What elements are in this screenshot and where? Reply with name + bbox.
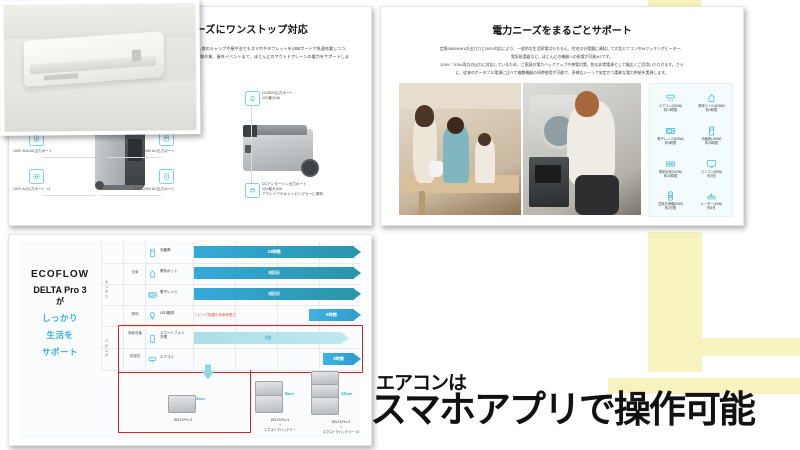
chart-row-3: LED照明 リビング設置中気象無電力 6時間 <box>147 305 361 326</box>
tagline-line-3: サポート <box>19 346 101 358</box>
chart-row-1: 電気ポット 3回/日 <box>147 263 361 284</box>
chart-bar-value-3: 6時間 <box>326 312 337 318</box>
category-label-living: リビング <box>105 329 110 369</box>
label-ac-100-200v: 100V/200V AC出力ポート <box>101 187 175 192</box>
panel2-body-line1: 定格3600W※1の出力力と200V対応により、一般的な生活家電はもちろん、住宅… <box>401 45 723 53</box>
appliance-time-1: 約4時間 <box>691 108 732 112</box>
refrigerator-icon <box>147 247 158 258</box>
chart-annotation: リビング設置中気象無電力 <box>194 313 236 318</box>
battery-capacity-2: 12kwh <box>341 391 352 396</box>
panel2-body-text: 定格3600W※1の出力力と200V対応により、一般的な生活家電はもちろん、住宅… <box>401 45 723 77</box>
slide-canvas: マルチ出力で多様な電力ニーズにワンストップ対応 7つのAC出力ポートに加え、4つ… <box>0 0 800 450</box>
battery-name-2-l3: エクストラバッテリー ×2 <box>281 430 372 435</box>
photo-family-kitchen <box>399 83 521 215</box>
panel2-body-line4: に、従来のポータブル電源に比べて複数機器の同時使用が可能で、多様なシーンで安定か… <box>401 69 723 77</box>
chart-bar-2: 3回/日 <box>194 288 354 300</box>
chart-bar-3: 6時間 <box>309 309 354 321</box>
tagline-line-1: しっかり <box>19 312 101 324</box>
photo-woman-laundry-power-station <box>523 83 641 215</box>
chart-bar-1: 3回/日 <box>194 267 354 279</box>
delta-pro-3-side-illustration <box>241 119 319 181</box>
appliance-cell-1: 電気ケトル(600W) 約4時間 <box>691 92 732 113</box>
panel2-body-line3: 100V／200V両方の出力に対応しているため、ご家庭の電力バックアップや停電対… <box>401 61 723 69</box>
microwave-icon <box>147 289 158 300</box>
appliance-time-0: 約13時間 <box>650 108 691 112</box>
subcategory-kitchen-lighting: 照明 <box>124 312 146 317</box>
product-model-name: DELTA Pro 3 <box>19 285 101 295</box>
chart-row-0: 冷蔵庫 24時間 <box>147 242 361 263</box>
chart-area: ECOFLOW DELTA Pro 3 が しっかり 生活を サポート キッチン <box>19 241 361 439</box>
appliance-cell-3: 冷蔵庫(100W) 約23時間 <box>691 125 732 146</box>
refrigerator-icon <box>706 125 718 136</box>
label-anderson-line3: アウトドアやキャンピングカーに便利 <box>262 192 323 197</box>
yellow-accent-bar-upper <box>652 338 800 356</box>
appliance-cell-0: エアコン(200W) 約13時間 <box>650 92 691 113</box>
panel-whole-support: 電力ニーズをまるごとサポート 定格3600W※1の出力力と200V対応により、一… <box>380 6 744 226</box>
category-label-kitchen: キッチン <box>105 255 110 325</box>
overlay-caption: エアコンは スマホアプリで操作可能 <box>370 374 800 429</box>
particle-ga: が <box>19 296 101 307</box>
chart-bar-value-4: 2台 <box>265 335 272 341</box>
pc-monitor-icon <box>706 158 718 169</box>
chart-bar-value-1: 3回/日 <box>268 270 280 276</box>
chart-bar-value-2: 3回/日 <box>268 291 280 297</box>
panel2-title: 電力ニーズをまるごとサポート <box>381 22 743 37</box>
label-ac-100v-x4: 100V AC出力ポート ×4 <box>13 187 50 192</box>
anderson-port-icon <box>245 183 260 198</box>
air-conditioner-photo <box>3 3 196 132</box>
ac-outlet-dual-voltage-icon <box>159 169 174 184</box>
appliance-time-2: 約4時間 <box>650 141 691 145</box>
router-icon <box>706 190 718 201</box>
panel2-body-line2: 電気給湯器など、ほとんどの機器への給電が可能※2です。 <box>401 53 723 61</box>
led-bulb-icon <box>147 310 158 321</box>
appliance-runtime-grid: エアコン(200W) 約13時間 電気ケトル(600W) 約4時間 電子レンジ(… <box>649 83 733 217</box>
ecoflow-logo: ECOFLOW <box>19 269 101 280</box>
kettle-icon <box>706 92 718 103</box>
kettle-icon <box>147 268 158 279</box>
ac-outlet-icon <box>29 169 44 184</box>
battery-option-2: 12kwh DELTA Pro 3 + エクストラバッテリー ×2 <box>281 369 372 434</box>
appliance-cell-4: 電気毛布(100W) 約23時間 <box>650 158 691 179</box>
appliance-time-5: 約7回 <box>691 174 732 178</box>
chart-row-2: 電子レンジ 3回/日 <box>147 284 361 305</box>
chart-bar-0: 24時間 <box>194 246 354 258</box>
chart-row-label-2: 電子レンジ <box>160 290 178 295</box>
appliance-time-7: 約5日 <box>691 206 732 210</box>
appliance-cell-7: ルーター(10W) 約5日 <box>691 190 732 211</box>
chart-bar-value-5: 3時間 <box>333 356 344 362</box>
chart-brand-column: ECOFLOW DELTA Pro 3 が しっかり 生活を サポート <box>19 241 101 439</box>
label-ac-200v: 200V AC出力ポート <box>109 149 175 154</box>
chart-bar-value-0: 24時間 <box>267 249 280 255</box>
battery-capacity-0: 4kwh <box>196 396 205 401</box>
panel-runtime-chart: ECOFLOW DELTA Pro 3 が しっかり 生活を サポート キッチン <box>8 234 372 446</box>
panel-air-conditioner-photo <box>0 0 201 136</box>
electric-blanket-icon <box>665 158 677 169</box>
chart-row-label-3: LED照明 <box>160 311 174 316</box>
dc5521-port-icon <box>245 91 260 106</box>
appliance-time-4: 約23時間 <box>650 174 691 178</box>
air-conditioner-icon <box>665 92 677 103</box>
air-purifier-icon <box>665 190 677 201</box>
subcategory-kitchen-main: 全景 <box>124 270 146 275</box>
chart-row-label-0: 冷蔵庫 <box>160 248 171 253</box>
appliance-cell-2: 電子レンジ(600W) 約4時間 <box>650 125 691 146</box>
highlight-box-living-rows <box>118 325 363 373</box>
tagline-line-2: 生活を <box>19 329 101 341</box>
microwave-icon <box>665 125 677 136</box>
label-ac-100v-30a: 100V 30A AC出力ポート <box>13 149 52 154</box>
chart-row-label-1: 電気ポット <box>160 269 178 274</box>
appliance-cell-6: 空気清浄機(50W) 約2日間 <box>650 190 691 211</box>
label-dc5521-line2: 12V最大5A <box>262 96 280 101</box>
appliance-time-6: 約2日間 <box>650 206 691 210</box>
overlay-line-2: スマホアプリで操作可能 <box>370 391 800 429</box>
appliance-cell-5: パソコン(50W) 約7回 <box>691 158 732 179</box>
appliance-time-3: 約23時間 <box>691 141 732 145</box>
